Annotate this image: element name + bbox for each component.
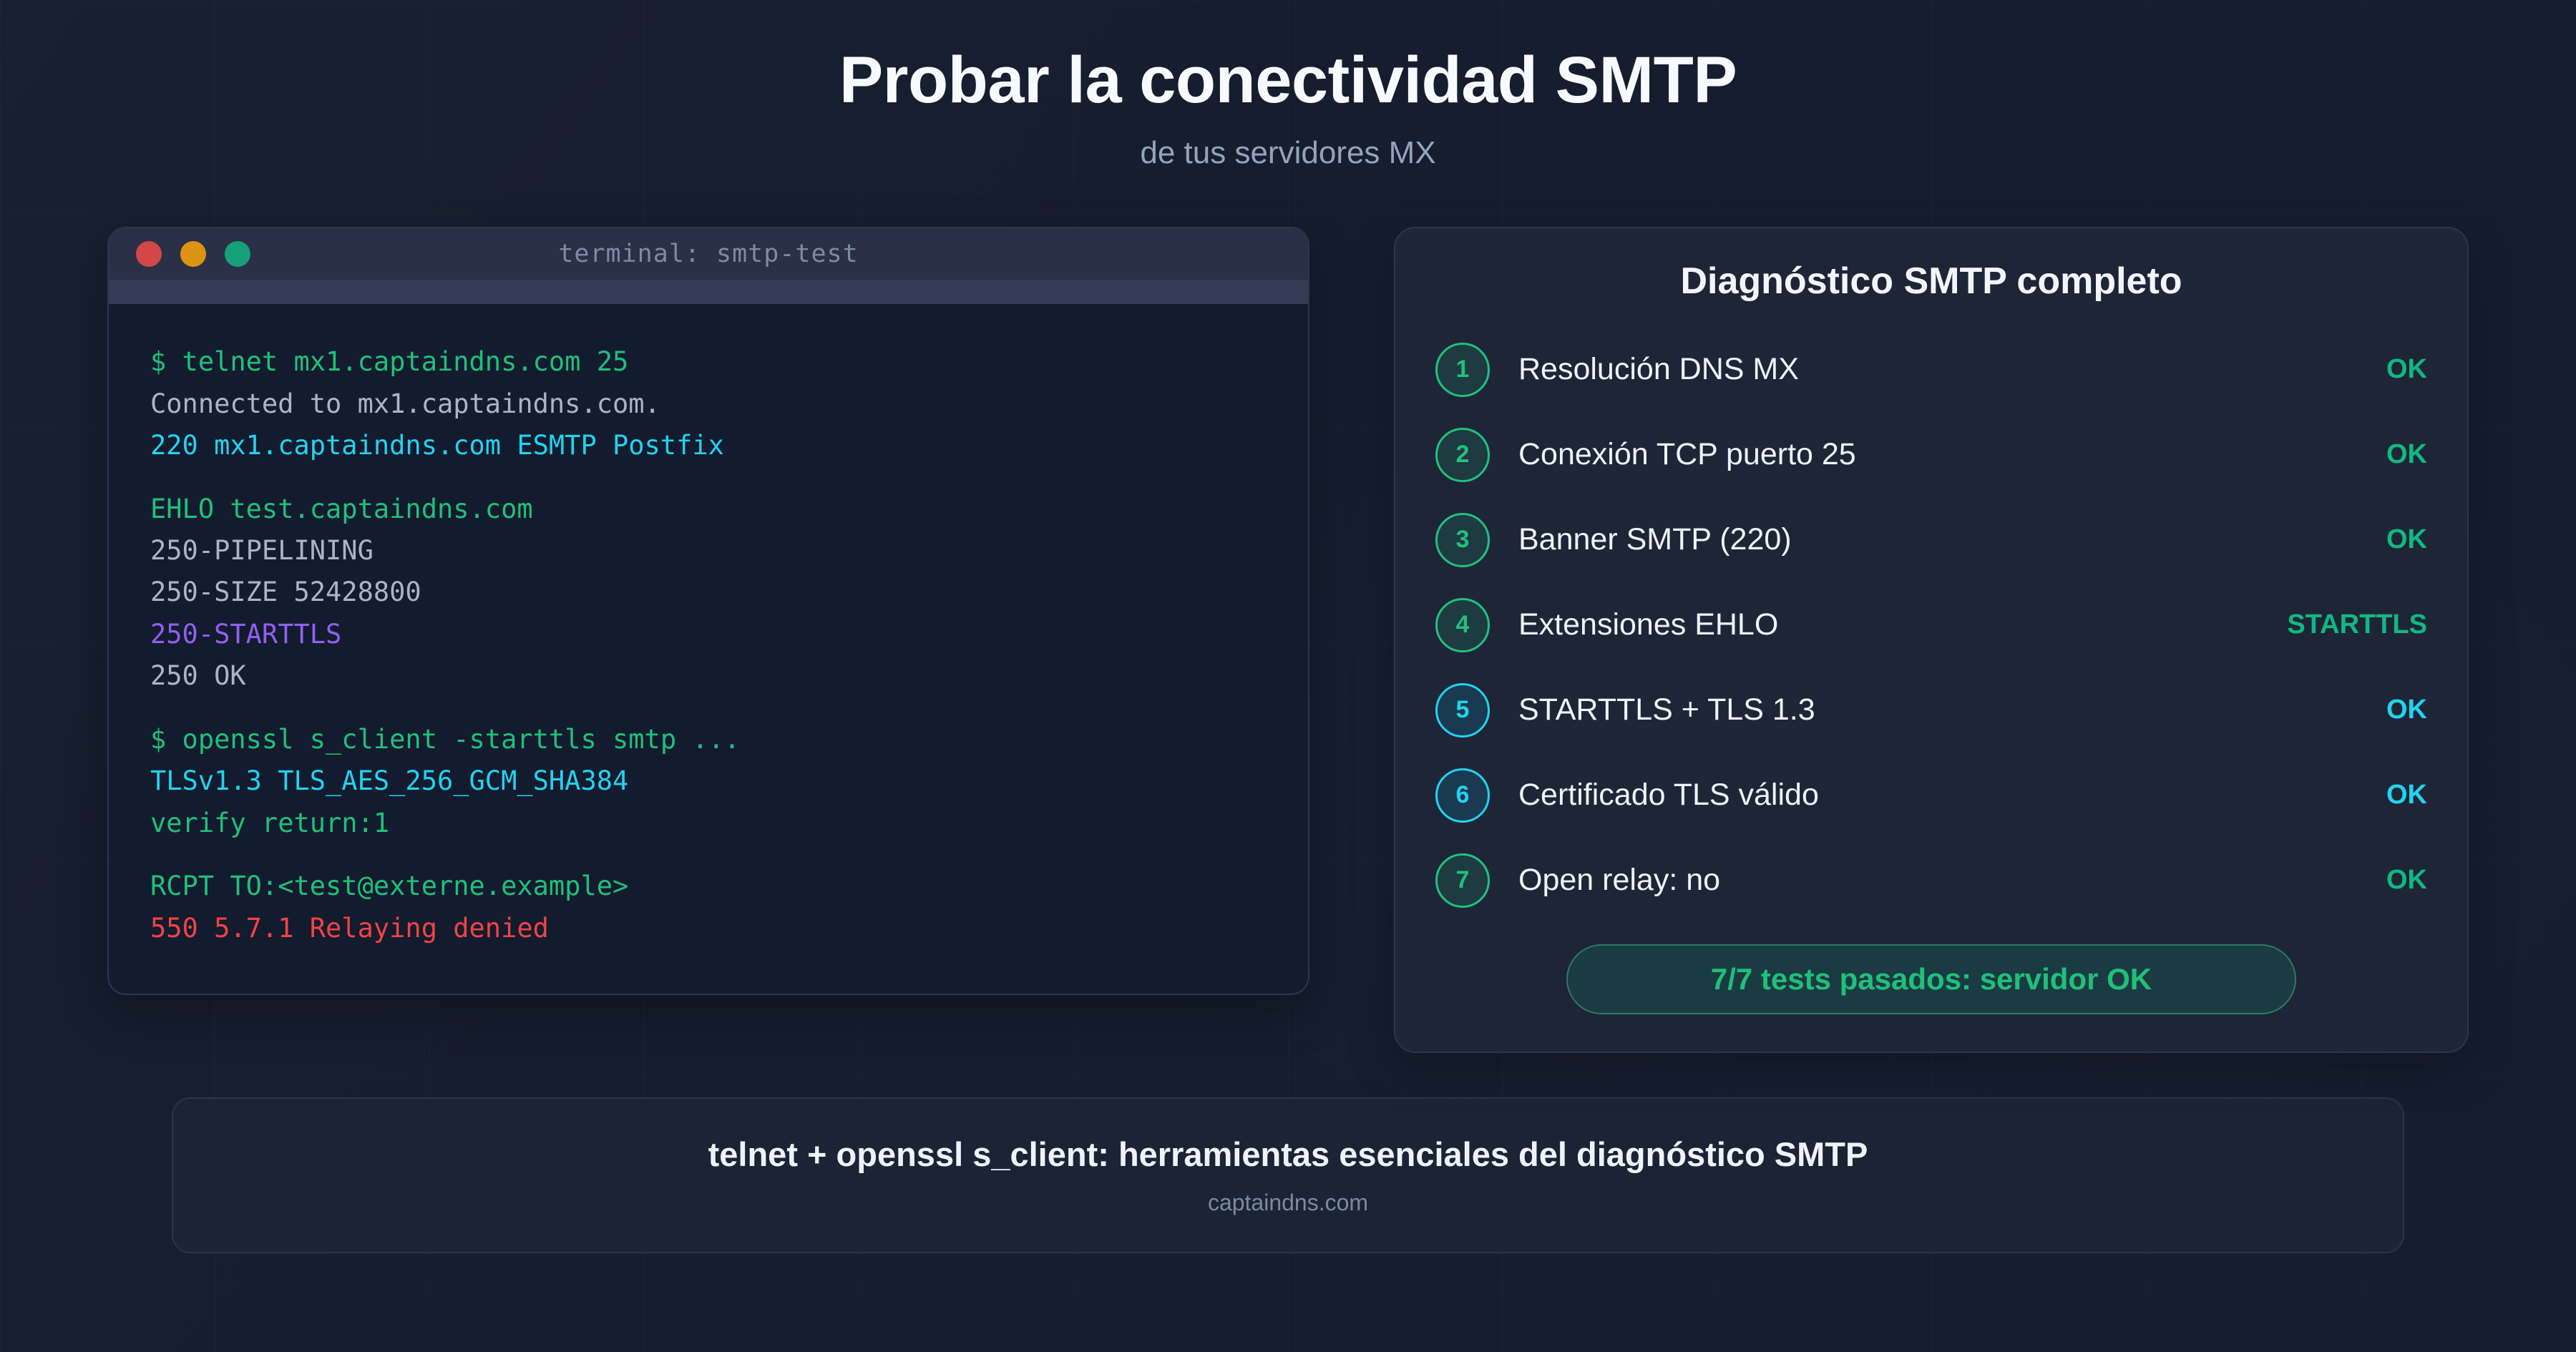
summary-badge: 7/7 tests pasados: servidor OK	[1566, 944, 2296, 1014]
checklist-label: Resolución DNS MX	[1518, 352, 2386, 387]
checklist-row: 5STARTTLS + TLS 1.3OK	[1435, 667, 2427, 753]
step-number-badge: 4	[1435, 598, 1490, 652]
diagnostics-panel: Diagnóstico SMTP completo 1Resolución DN…	[1394, 227, 2469, 1053]
checklist-label: Open relay: no	[1518, 863, 2386, 898]
terminal-line: verify return:1	[150, 803, 1267, 844]
terminal-line: TLSv1.3 TLS_AES_256_GCM_SHA384	[150, 760, 1267, 802]
main-content: terminal: smtp-test $ telnet mx1.captain…	[0, 227, 2576, 1053]
status-badge: OK	[2386, 439, 2427, 470]
page-subtitle: de tus servidores MX	[0, 135, 2576, 171]
step-number-badge: 1	[1435, 343, 1490, 397]
panel-title: Diagnóstico SMTP completo	[1435, 260, 2427, 303]
step-number-badge: 6	[1435, 768, 1490, 823]
terminal-line: $ openssl s_client -starttls smtp ...	[150, 719, 1267, 760]
page-title: Probar la conectividad SMTP	[0, 44, 2576, 117]
checklist-label: Certificado TLS válido	[1518, 778, 2386, 813]
status-badge: STARTTLS	[2287, 609, 2427, 640]
terminal-line: RCPT TO:<test@externe.example>	[150, 866, 1267, 907]
footer-source: captaindns.com	[1208, 1190, 1368, 1216]
checklist-row: 7Open relay: noOK	[1435, 838, 2427, 923]
terminal-line: 550 5.7.1 Relaying denied	[150, 908, 1267, 949]
checklist-row: 4Extensiones EHLOSTARTTLS	[1435, 582, 2427, 667]
page-root: Probar la conectividad SMTP de tus servi…	[0, 0, 2576, 1352]
step-number-badge: 5	[1435, 683, 1490, 738]
terminal-titlebar: terminal: smtp-test	[109, 228, 1308, 280]
checklist: 1Resolución DNS MXOK2Conexión TCP puerto…	[1435, 327, 2427, 923]
checklist-row: 1Resolución DNS MXOK	[1435, 327, 2427, 412]
footer-tagline: telnet + openssl s_client: herramientas …	[708, 1135, 1868, 1174]
checklist-label: STARTTLS + TLS 1.3	[1518, 692, 2386, 728]
terminal-line: 250-SIZE 52428800	[150, 572, 1267, 613]
header: Probar la conectividad SMTP de tus servi…	[0, 0, 2576, 171]
terminal-line: $ telnet mx1.captaindns.com 25	[150, 341, 1267, 383]
terminal-tabstrip	[109, 280, 1308, 304]
terminal-blank-line	[150, 467, 1267, 489]
terminal-line: 220 mx1.captaindns.com ESMTP Postfix	[150, 425, 1267, 466]
status-badge: OK	[2386, 780, 2427, 810]
step-number-badge: 3	[1435, 513, 1490, 567]
terminal-line: 250-STARTTLS	[150, 614, 1267, 655]
status-badge: OK	[2386, 354, 2427, 385]
terminal-line: Connected to mx1.captaindns.com.	[150, 383, 1267, 425]
checklist-row: 3Banner SMTP (220)OK	[1435, 497, 2427, 582]
checklist-row: 6Certificado TLS válidoOK	[1435, 753, 2427, 838]
status-badge: OK	[2386, 865, 2427, 896]
footer: telnet + openssl s_client: herramientas …	[172, 1097, 2404, 1253]
step-number-badge: 2	[1435, 428, 1490, 482]
terminal-blank-line	[150, 697, 1267, 719]
terminal-output[interactable]: $ telnet mx1.captaindns.com 25Connected …	[109, 304, 1308, 994]
status-badge: OK	[2386, 695, 2427, 725]
terminal-window: terminal: smtp-test $ telnet mx1.captain…	[107, 227, 1309, 995]
terminal-blank-line	[150, 844, 1267, 866]
terminal-line: 250-PIPELINING	[150, 530, 1267, 572]
status-badge: OK	[2386, 524, 2427, 555]
checklist-label: Extensiones EHLO	[1518, 607, 2287, 642]
terminal-line: EHLO test.captaindns.com	[150, 489, 1267, 530]
checklist-row: 2Conexión TCP puerto 25OK	[1435, 412, 2427, 497]
checklist-label: Banner SMTP (220)	[1518, 522, 2386, 557]
terminal-title: terminal: smtp-test	[109, 240, 1308, 268]
step-number-badge: 7	[1435, 853, 1490, 908]
terminal-line: 250 OK	[150, 655, 1267, 697]
checklist-label: Conexión TCP puerto 25	[1518, 437, 2386, 472]
